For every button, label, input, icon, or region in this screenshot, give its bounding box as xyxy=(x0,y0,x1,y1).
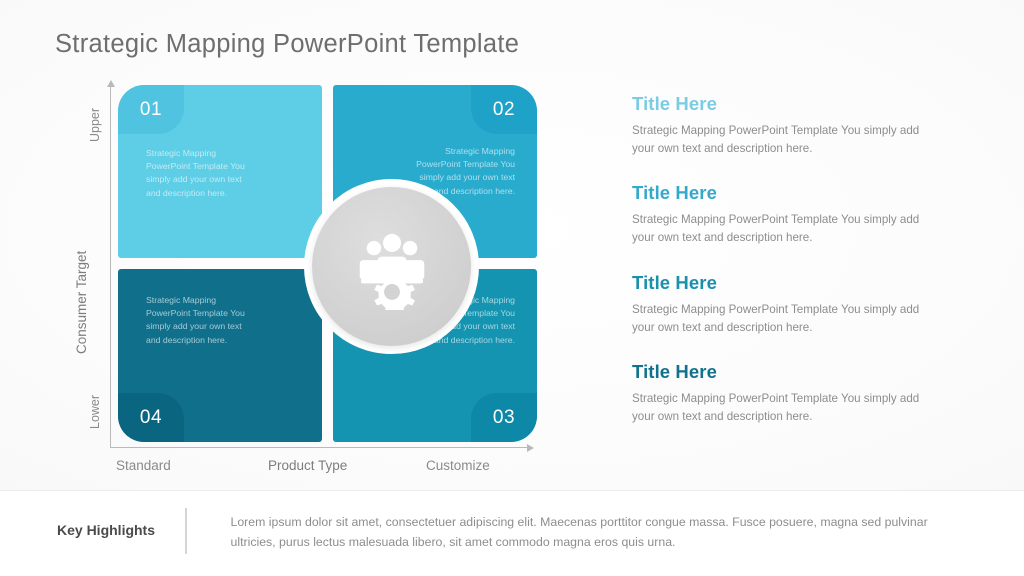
quadrant-01-badge: 01 xyxy=(118,85,184,134)
info-block-1-title: Title Here xyxy=(632,93,952,115)
quadrant-04-text: Strategic Mapping PowerPoint Template Yo… xyxy=(146,294,251,347)
footer-content: Key Highlights Lorem ipsum dolor sit ame… xyxy=(57,508,973,554)
info-block-2: Title Here Strategic Mapping PowerPoint … xyxy=(632,182,952,247)
info-block-2-title: Title Here xyxy=(632,182,952,204)
quadrant-01-number: 01 xyxy=(140,99,162,121)
x-axis-label: Product Type xyxy=(268,458,347,473)
y-axis-arrow-icon xyxy=(107,80,115,87)
center-disc xyxy=(312,187,471,346)
y-axis-bottom-label: Lower xyxy=(88,395,102,429)
footer-divider xyxy=(185,508,187,554)
x-axis-arrow-icon xyxy=(527,444,534,452)
quadrant-04-badge: 04 xyxy=(118,393,184,442)
center-hub xyxy=(304,179,479,354)
page-title: Strategic Mapping PowerPoint Template xyxy=(55,30,519,59)
y-axis-top-label: Upper xyxy=(88,108,102,142)
info-block-4: Title Here Strategic Mapping PowerPoint … xyxy=(632,361,952,426)
info-block-list: Title Here Strategic Mapping PowerPoint … xyxy=(632,93,952,426)
y-axis-label: Consumer Target xyxy=(74,251,89,354)
slide-canvas: Strategic Mapping PowerPoint Template Up… xyxy=(0,0,1024,576)
quadrant-03-number: 03 xyxy=(493,407,515,429)
y-axis-line xyxy=(110,86,111,448)
info-block-1-description: Strategic Mapping PowerPoint Template Yo… xyxy=(632,122,932,158)
info-block-1: Title Here Strategic Mapping PowerPoint … xyxy=(632,93,952,158)
strategic-matrix: Upper Consumer Target Lower Standard Pro… xyxy=(72,84,562,484)
info-block-4-title: Title Here xyxy=(632,361,952,383)
info-block-3-title: Title Here xyxy=(632,272,952,294)
quadrant-04-number: 04 xyxy=(140,407,162,429)
team-gear-icon xyxy=(349,224,435,310)
info-block-3: Title Here Strategic Mapping PowerPoint … xyxy=(632,272,952,337)
footer-label: Key Highlights xyxy=(57,508,185,538)
quadrant-01[interactable]: 01 Strategic Mapping PowerPoint Template… xyxy=(118,85,322,258)
info-block-3-description: Strategic Mapping PowerPoint Template Yo… xyxy=(632,301,932,337)
quadrant-group: 01 Strategic Mapping PowerPoint Template… xyxy=(118,85,537,442)
footer-bar: Key Highlights Lorem ipsum dolor sit ame… xyxy=(0,490,1024,576)
info-block-2-description: Strategic Mapping PowerPoint Template Yo… xyxy=(632,211,932,247)
x-axis-left-label: Standard xyxy=(116,458,171,473)
x-axis-line xyxy=(110,447,530,448)
quadrant-02-badge: 02 xyxy=(471,85,537,134)
footer-text: Lorem ipsum dolor sit amet, consectetuer… xyxy=(231,508,973,553)
quadrant-04[interactable]: 04 Strategic Mapping PowerPoint Template… xyxy=(118,269,322,442)
quadrant-03-badge: 03 xyxy=(471,393,537,442)
quadrant-02-number: 02 xyxy=(493,99,515,121)
info-block-4-description: Strategic Mapping PowerPoint Template Yo… xyxy=(632,390,932,426)
x-axis-right-label: Customize xyxy=(426,458,490,473)
quadrant-01-text: Strategic Mapping PowerPoint Template Yo… xyxy=(146,147,251,200)
